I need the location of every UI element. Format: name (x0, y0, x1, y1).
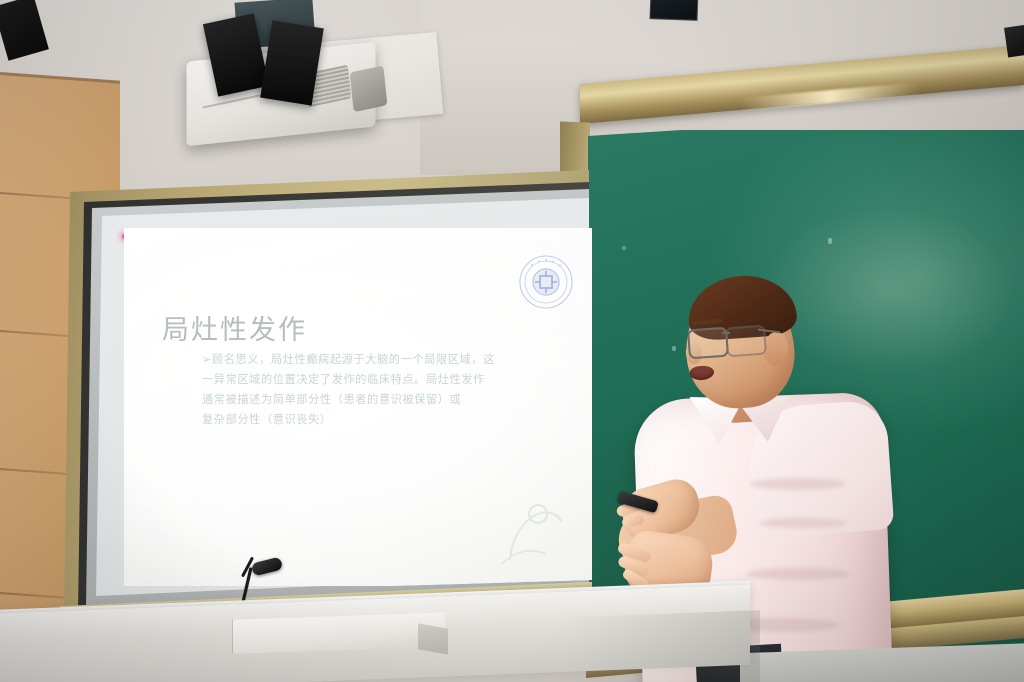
shirt-fold (760, 518, 846, 528)
slide-body-line: 一异常区域的位置决定了发作的临床特点。局灶性发作 (202, 370, 578, 390)
slide-body-line: 复杂部分性（意识丧失） (202, 410, 578, 430)
podium-riser-side (418, 623, 448, 654)
finger (621, 514, 645, 528)
shirt-fold (746, 568, 850, 580)
slide-body-line: ➢顾名思义，局灶性癫痫起源于大脑的一个局限区域，这 (202, 350, 578, 370)
slide-body-line: 通常被描述为简单部分性（患者的意识被保留）或 (202, 390, 578, 410)
slide-watermark (490, 488, 580, 568)
shirt-fold (750, 478, 846, 490)
ceiling-light-far-right (1004, 24, 1024, 57)
slide-body: ➢顾名思义，局灶性癫痫起源于大脑的一个局限区域，这 一异常区域的位置决定了发作的… (202, 350, 578, 430)
whiteboard-projection-area: 局灶性发作 ➢顾名思义，局灶性癫痫起源于大脑的一个局限区域，这 一异常区域的位置… (44, 170, 589, 625)
podium-shadow (560, 610, 760, 682)
classroom-scene: 局灶性发作 ➢顾名思义，局灶性癫痫起源于大脑的一个局限区域，这 一异常区域的位置… (0, 0, 1024, 682)
ceiling-vent-top-right (650, 0, 699, 21)
slide-content: 局灶性发作 ➢顾名思义，局灶性癫痫起源于大脑的一个局限区域，这 一异常区域的位置… (146, 246, 586, 576)
chalk-mark (828, 238, 832, 244)
projector-lens (350, 65, 388, 112)
projected-slide: 局灶性发作 ➢顾名思义，局灶性癫痫起源于大脑的一个局限区域，这 一异常区域的位置… (124, 228, 592, 586)
university-seal-logo (518, 254, 574, 310)
eyeglasses-bridge (722, 332, 730, 334)
chalk-mark (622, 246, 626, 250)
slide-title: 局灶性发作 (162, 308, 307, 347)
